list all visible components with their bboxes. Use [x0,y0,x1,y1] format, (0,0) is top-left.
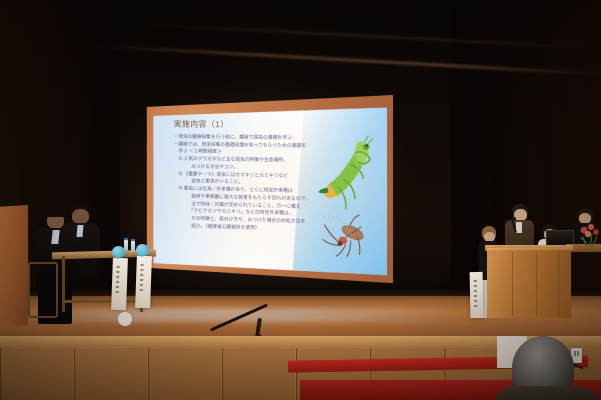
stage-ball-marker [118,312,132,326]
bottle-cap [124,238,128,240]
presentation-slide: 実施内容（1） ・昆虫の観察採集を行う前に、講座で昆虫の基礎を学ぶ ・講座では、… [152,107,387,277]
table-leg [62,256,65,312]
podium-seam [558,252,559,316]
water-bottle [131,241,135,252]
bottle-cap [131,239,135,241]
podium-side-banner [470,272,484,318]
praying-mantis-icon [312,135,382,223]
left-lectern [0,205,28,327]
apron-panel [148,348,222,400]
banner-flower-decoration [136,244,149,256]
chair [28,262,58,318]
audience-member-shoulders [492,386,601,400]
photo-scene: 実施内容（1） ・昆虫の観察採集を行う前に、講座で昆虫の基礎を学ぶ ・講座では、… [0,0,601,400]
flower-arrangement [578,222,601,248]
projection-screen: 実施内容（1） ・昆虫の観察採集を行う前に、講座で昆虫の基礎を学ぶ ・講座では、… [146,95,393,287]
apron-panel [0,348,74,400]
table-stretcher [64,300,144,303]
apron-panel [74,348,148,400]
slide-title: 実施内容（1） [174,118,379,131]
longhorn-beetle-icon [321,213,376,259]
podium-seam [536,252,537,316]
standing-banner [135,256,152,308]
apron-panel [222,348,296,400]
slide-bullets: ・昆虫の観察採集を行う前に、講座で昆虫の基礎を学ぶ ・講座では、昆虫採集の基礎知… [174,134,314,234]
banner-flower-decoration [112,246,125,258]
standing-banner [111,258,128,310]
microphone-head [512,217,516,221]
podium-seam [512,252,513,316]
